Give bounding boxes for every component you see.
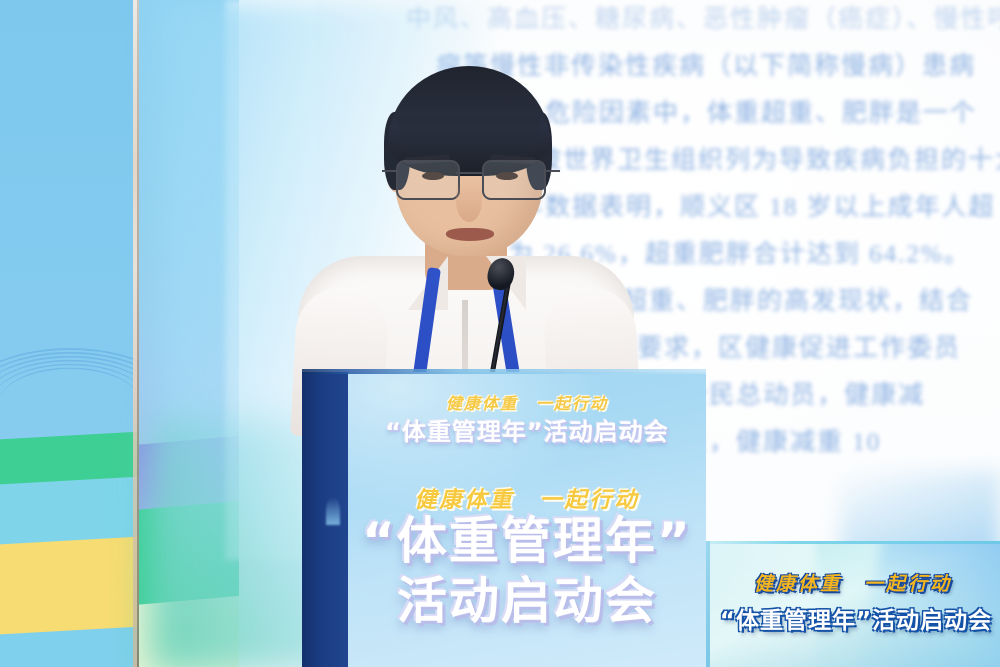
bottom-right-banner: 健康体重 一起行动 “体重管理年”活动启动会	[706, 541, 1000, 667]
podium-big-slogan: 健康体重 一起行动	[348, 482, 706, 514]
lens-left	[396, 160, 460, 200]
banner-left-edge	[706, 541, 710, 667]
podium-big-title-line1: “体重管理年”	[348, 512, 706, 570]
nose	[456, 180, 482, 222]
lens-right	[482, 160, 546, 200]
podium-side-panel	[302, 372, 348, 667]
led-panel-left	[0, 0, 139, 667]
banner-slogan: 健康体重 一起行动	[706, 569, 1000, 596]
glasses-bridge	[456, 172, 482, 174]
speaker	[300, 60, 630, 390]
podium: 健康体重 一起行动 “体重管理年”活动启动会 健康体重 一起行动 “体重管理年”…	[302, 372, 706, 667]
podium-top-edge	[302, 369, 706, 374]
banner-top-edge	[706, 541, 1000, 544]
screenshot-stage: 中风、高血压、糖尿病、恶性肿瘤（癌症）、慢性呼吸 瘤等慢性非传染性疾病（以下简称…	[0, 0, 1000, 667]
glasses-temple-left	[382, 170, 396, 172]
banner-title: “体重管理年”活动启动会	[706, 601, 1000, 635]
mouth	[446, 228, 494, 241]
podium-small-title: “体重管理年”活动启动会	[348, 412, 706, 447]
podium-small-slogan: 健康体重 一起行动	[348, 390, 706, 414]
glasses-temple-right	[546, 170, 560, 172]
podium-big-title-line2: 活动启动会	[348, 572, 706, 630]
